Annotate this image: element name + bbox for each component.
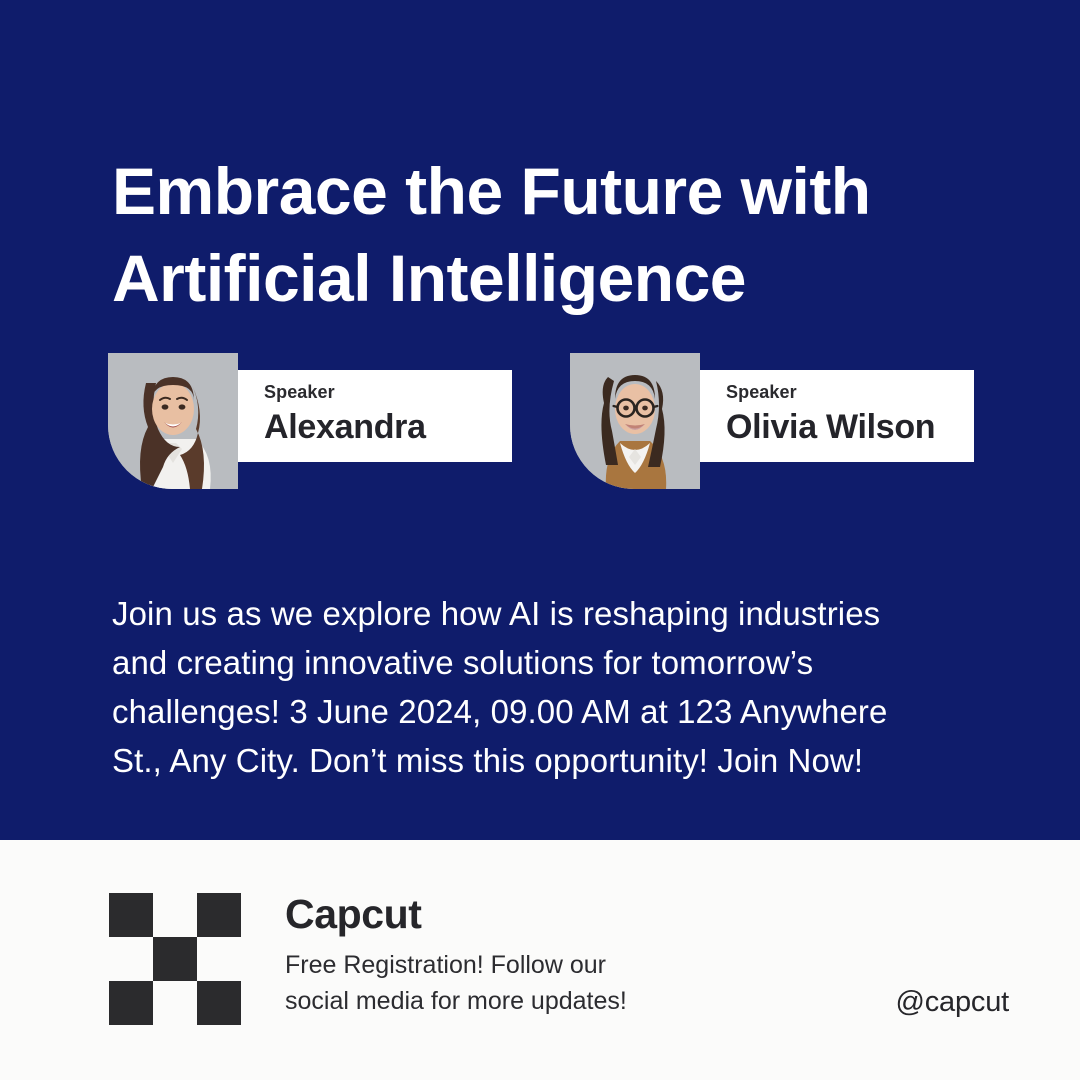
logo-cell-bottom-left — [109, 981, 153, 1025]
checkerboard-logo-icon — [109, 893, 241, 1025]
logo-cell-bottom-right — [197, 981, 241, 1025]
logo-cell-top-left — [109, 893, 153, 937]
headline-line-1: Embrace the Future with — [112, 148, 992, 235]
registration-note-line-2: social media for more updates! — [285, 984, 805, 1020]
speaker-info-box: Speaker Olivia Wilson — [700, 370, 974, 462]
registration-note: Free Registration! Follow our social med… — [285, 948, 805, 1019]
avatar — [570, 353, 700, 489]
body-line-2: and creating innovative solutions for to… — [112, 638, 992, 687]
body-line-3: challenges! 3 June 2024, 09.00 AM at 123… — [112, 687, 992, 736]
speaker-role-label: Speaker — [264, 383, 512, 401]
page-title: Embrace the Future with Artificial Intel… — [112, 148, 992, 322]
event-description: Join us as we explore how AI is reshapin… — [112, 589, 992, 786]
avatar — [108, 353, 238, 489]
logo-cell-top-right — [197, 893, 241, 937]
speaker-card-alexandra: Speaker Alexandra — [108, 353, 512, 489]
brand-block: Capcut Free Registration! Follow our soc… — [285, 892, 805, 1019]
speaker-name: Alexandra — [264, 410, 512, 446]
event-poster: Embrace the Future with Artificial Intel… — [0, 0, 1080, 1080]
body-line-1: Join us as we explore how AI is reshapin… — [112, 589, 992, 638]
brand-name: Capcut — [285, 892, 805, 936]
speaker-card-olivia-wilson: Speaker Olivia Wilson — [570, 353, 974, 489]
speaker-name: Olivia Wilson — [726, 410, 974, 446]
speaker-info-box: Speaker Alexandra — [238, 370, 512, 462]
speaker-role-label: Speaker — [726, 383, 974, 401]
social-handle: @capcut — [896, 986, 1009, 1019]
body-line-4: St., Any City. Don’t miss this opportuni… — [112, 736, 992, 785]
headline-line-2: Artificial Intelligence — [112, 235, 992, 322]
logo-cell-center — [153, 937, 197, 981]
registration-note-line-1: Free Registration! Follow our — [285, 948, 805, 984]
speaker-list: Speaker Alexandra — [108, 353, 974, 489]
